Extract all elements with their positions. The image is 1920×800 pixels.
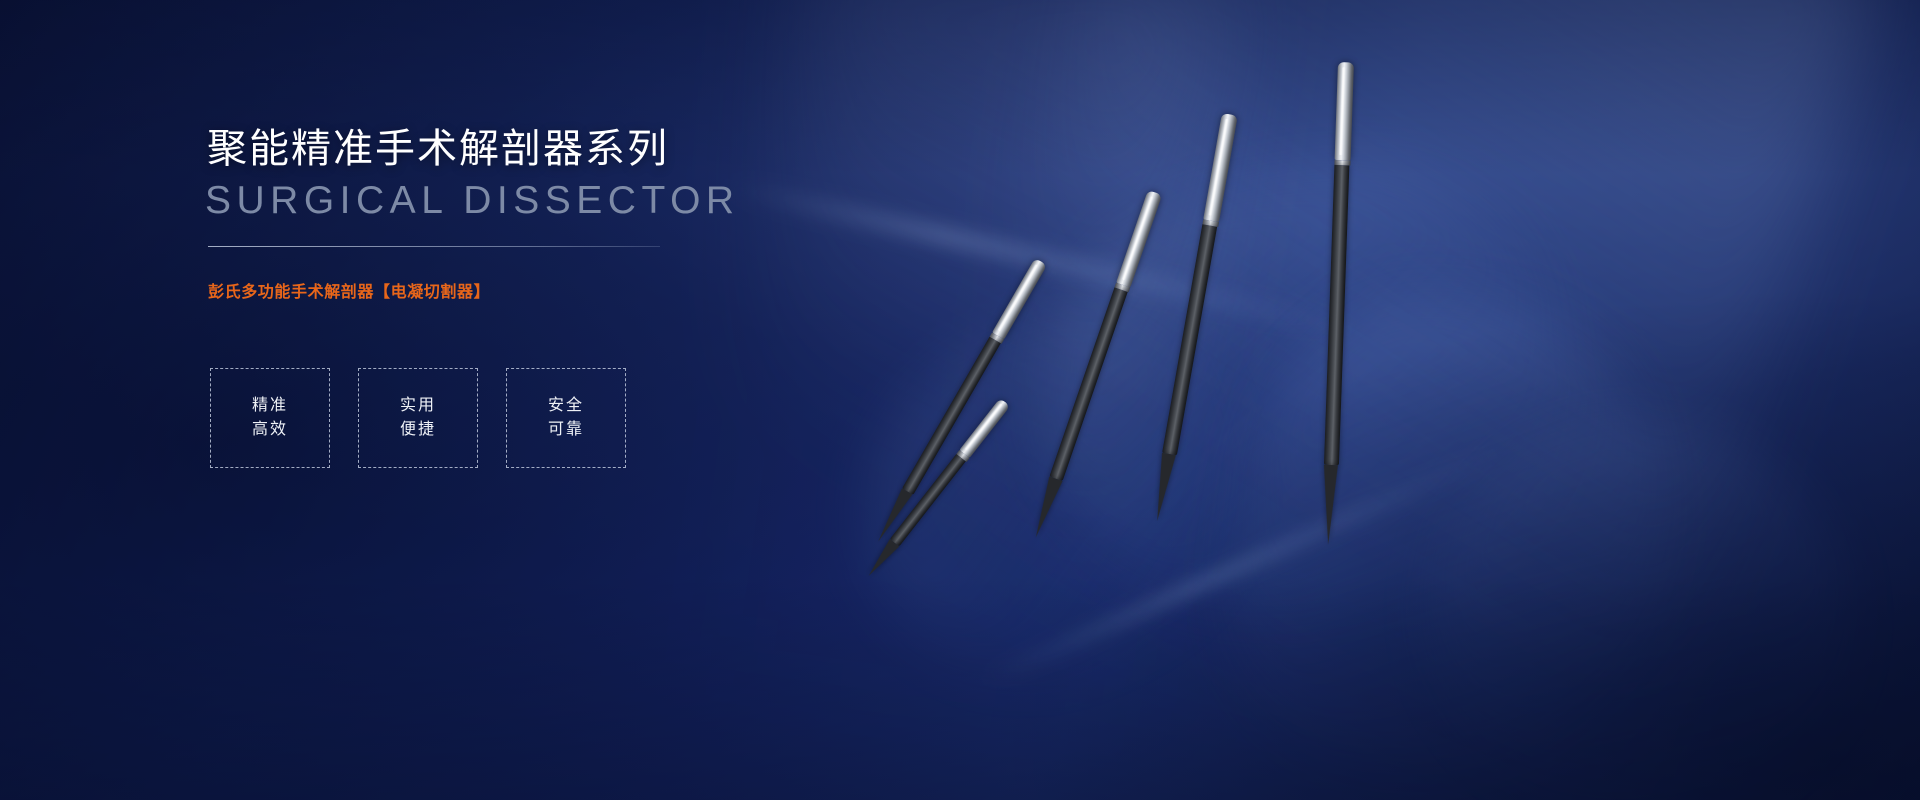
instrument-shaft	[1324, 165, 1349, 465]
feature-box-3: 安全 可靠	[506, 368, 626, 468]
instrument-tip	[1029, 476, 1062, 539]
feature-box-1: 精准 高效	[210, 368, 330, 468]
page-title: 聚能精准手术解剖器系列	[207, 125, 669, 173]
instrument-tip	[864, 539, 899, 579]
product-banner: 聚能精准手术解剖器系列 SURGICAL DISSECTOR 彭氏多功能手术解剖…	[0, 0, 1920, 800]
instrument-highlight	[1121, 196, 1153, 281]
feature-label: 实用	[400, 398, 436, 414]
feature-box-2: 实用 便捷	[358, 368, 478, 468]
instrument-shaft	[1049, 287, 1127, 481]
instrument-tip	[1150, 453, 1176, 522]
instrument-highlight	[997, 264, 1038, 332]
feature-label: 高效	[252, 422, 288, 438]
divider	[208, 246, 660, 247]
banner-content: 聚能精准手术解剖器系列 SURGICAL DISSECTOR 彭氏多功能手术解剖…	[0, 0, 760, 800]
feature-label: 便捷	[400, 422, 436, 438]
feature-label: 安全	[548, 398, 584, 414]
page-subtitle-english: SURGICAL DISSECTOR	[205, 178, 740, 225]
feature-list: 精准 高效 实用 便捷 安全 可靠	[210, 368, 626, 468]
instrument-tip	[1321, 465, 1338, 545]
feature-label: 可靠	[548, 422, 584, 438]
instrument-highlight	[964, 403, 1003, 451]
instrument-shaft	[1162, 224, 1217, 455]
feature-label: 精准	[252, 398, 288, 414]
product-name: 彭氏多功能手术解剖器【电凝切割器】	[208, 278, 490, 302]
